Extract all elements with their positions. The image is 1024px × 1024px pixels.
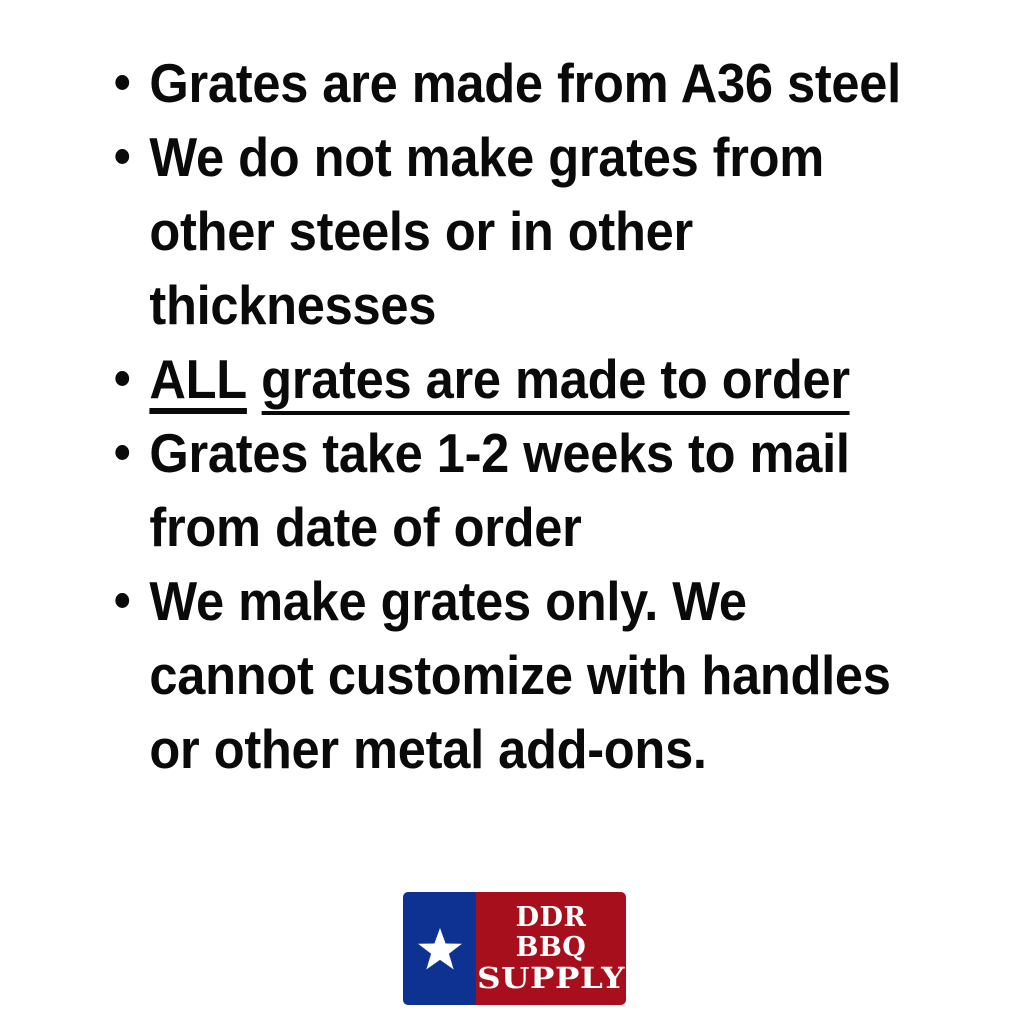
bullet-dot-icon	[115, 149, 129, 164]
grate-policy-list: Grates are made from A36 steel We do not…	[108, 46, 976, 786]
logo-red-panel: DDR BBQ SUPPLY	[476, 892, 626, 1005]
bullet-dot-icon	[115, 371, 129, 386]
bullet-text: Grates take 1-2 weeks to mail from date …	[149, 422, 849, 558]
bullet-text: Grates are made from A36 steel	[149, 52, 901, 114]
list-item: ALL grates are made to order	[108, 342, 907, 416]
page-root: Grates are made from A36 steel We do not…	[0, 0, 1024, 1024]
logo-blue-panel	[403, 892, 476, 1005]
list-item: Grates are made from A36 steel	[108, 46, 907, 120]
bullet-emphasis-word: ALL	[149, 353, 247, 414]
ddr-bbq-supply-logo: DDR BBQ SUPPLY	[403, 892, 626, 1005]
list-item: We make grates only. We cannot customize…	[108, 564, 907, 786]
bullet-dot-icon	[115, 445, 129, 460]
bullet-dot-icon	[115, 593, 129, 608]
bullet-remainder-text: grates are made to order	[261, 353, 850, 415]
star-icon	[417, 927, 463, 971]
logo-line-supply: SUPPLY	[477, 964, 625, 993]
bullet-text-underlined: ALL grates are made to order	[149, 348, 849, 410]
list-item: We do not make grates from other steels …	[108, 120, 907, 342]
bullet-text: We make grates only. We cannot customize…	[149, 570, 890, 780]
bullet-dot-icon	[115, 75, 129, 90]
logo-line-bbq: BBQ	[516, 934, 587, 961]
logo-line-ddr: DDR	[516, 904, 587, 931]
bullet-text: We do not make grates from other steels …	[149, 126, 824, 336]
list-item: Grates take 1-2 weeks to mail from date …	[108, 416, 907, 564]
